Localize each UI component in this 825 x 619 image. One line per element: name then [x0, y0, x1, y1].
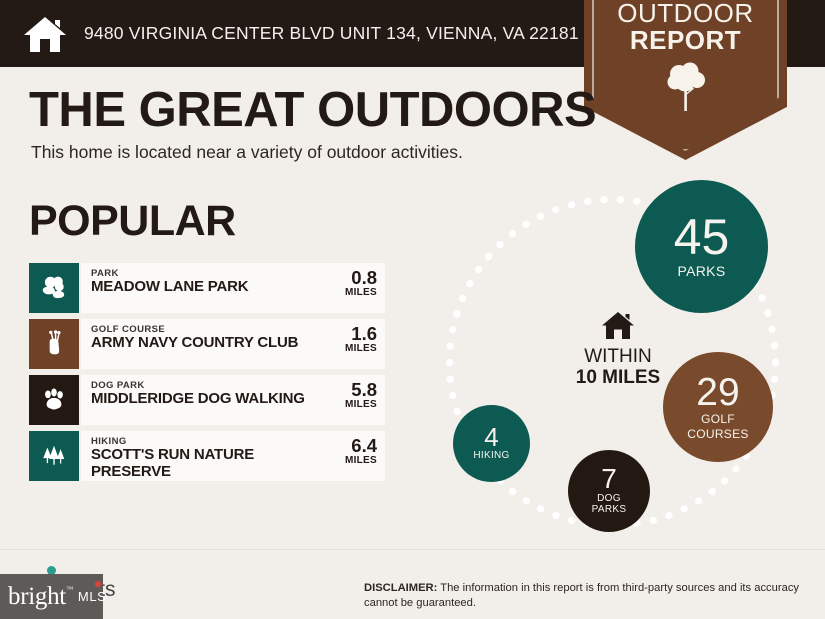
item-name: MIDDLERIDGE DOG WALKING	[91, 391, 327, 408]
row-distance: 6.4 MILES	[327, 431, 385, 481]
pine-trees-icon	[29, 431, 79, 481]
item-unit: MILES	[327, 287, 377, 298]
property-address: 9480 VIRGINIA CENTER BLVD UNIT 134, VIEN…	[84, 23, 579, 44]
row-distance: 5.8 MILES	[327, 375, 385, 425]
bubble-golf-label-1: GOLF	[701, 413, 735, 426]
bright-mls-logo[interactable]: bright ™ MLS	[0, 574, 103, 619]
brand-dot-red-icon	[95, 581, 101, 587]
bubble-hiking-label: HIKING	[473, 451, 509, 462]
item-distance: 5.8	[327, 380, 377, 399]
item-name: SCOTT'S RUN NATURE PRESERVE	[91, 447, 327, 481]
center-line-1: WITHIN	[538, 346, 698, 367]
bubble-parks-value: 45	[674, 214, 730, 262]
item-distance: 0.8	[327, 268, 377, 287]
bubble-golf-label-2: COURSES	[687, 428, 748, 441]
logo-mls: MLS	[78, 589, 107, 604]
list-item[interactable]: GOLF COURSE ARMY NAVY COUNTRY CLUB 1.6 M…	[29, 319, 385, 369]
list-item[interactable]: PARK MEADOW LANE PARK 0.8 MILES	[29, 263, 385, 313]
outdoor-report-badge: OUTDOOR REPORT	[584, 0, 787, 160]
footer-divider	[0, 549, 825, 550]
popular-list: PARK MEADOW LANE PARK 0.8 MILES	[29, 263, 385, 487]
golf-bag-icon	[29, 319, 79, 369]
row-text: GOLF COURSE ARMY NAVY COUNTRY CLUB	[79, 319, 327, 369]
trademark-icon: ™	[66, 585, 73, 593]
bubble-dog-parks[interactable]: 7 DOG PARKS	[568, 450, 650, 532]
outdoor-report-page: 9480 VIRGINIA CENTER BLVD UNIT 134, VIEN…	[0, 0, 825, 619]
logo-wordmark: bright ™	[8, 583, 66, 611]
row-distance: 1.6 MILES	[327, 319, 385, 369]
page-title: THE GREAT OUTDOORS	[29, 86, 596, 135]
chart-center-label: WITHIN 10 MILES	[538, 310, 698, 389]
bubble-parks-label: PARKS	[678, 264, 726, 279]
bubble-hiking-value: 4	[484, 425, 498, 450]
item-unit: MILES	[327, 399, 377, 410]
item-name: MEADOW LANE PARK	[91, 279, 327, 296]
row-distance: 0.8 MILES	[327, 263, 385, 313]
disclaimer: DISCLAIMER: The information in this repo…	[364, 581, 804, 611]
center-line-2: 10 MILES	[538, 367, 698, 388]
header-address-block: 9480 VIRGINIA CENTER BLVD UNIT 134, VIEN…	[0, 0, 582, 67]
bubble-dog-label-1: DOG	[597, 494, 621, 505]
paw-print-icon	[29, 375, 79, 425]
popular-heading: POPULAR	[29, 200, 236, 243]
tree-icon	[665, 60, 707, 112]
list-item[interactable]: DOG PARK MIDDLERIDGE DOG WALKING 5.8 MIL…	[29, 375, 385, 425]
page-subtitle: This home is located near a variety of o…	[31, 142, 463, 163]
row-text: HIKING SCOTT'S RUN NATURE PRESERVE	[79, 431, 327, 481]
park-trees-icon	[29, 263, 79, 313]
bubble-hiking[interactable]: 4 HIKING	[453, 405, 530, 482]
home-icon	[22, 14, 68, 54]
within-10-miles-bubble-chart: 45 PARKS 29 GOLF COURSES 7 DOG PARKS 4 H…	[420, 170, 825, 545]
row-text: PARK MEADOW LANE PARK	[79, 263, 327, 313]
item-unit: MILES	[327, 455, 377, 466]
disclaimer-label: DISCLAIMER:	[364, 582, 437, 594]
bubble-parks[interactable]: 45 PARKS	[635, 180, 768, 313]
list-item[interactable]: HIKING SCOTT'S RUN NATURE PRESERVE 6.4 M…	[29, 431, 385, 481]
item-unit: MILES	[327, 343, 377, 354]
item-distance: 1.6	[327, 324, 377, 343]
bubble-golf-value: 29	[696, 374, 739, 411]
home-icon	[601, 310, 635, 340]
item-distance: 6.4	[327, 436, 377, 455]
bubble-dog-label-2: PARKS	[592, 505, 627, 516]
row-text: DOG PARK MIDDLERIDGE DOG WALKING	[79, 375, 327, 425]
bubble-dog-value: 7	[601, 466, 617, 493]
item-name: ARMY NAVY COUNTRY CLUB	[91, 335, 327, 352]
